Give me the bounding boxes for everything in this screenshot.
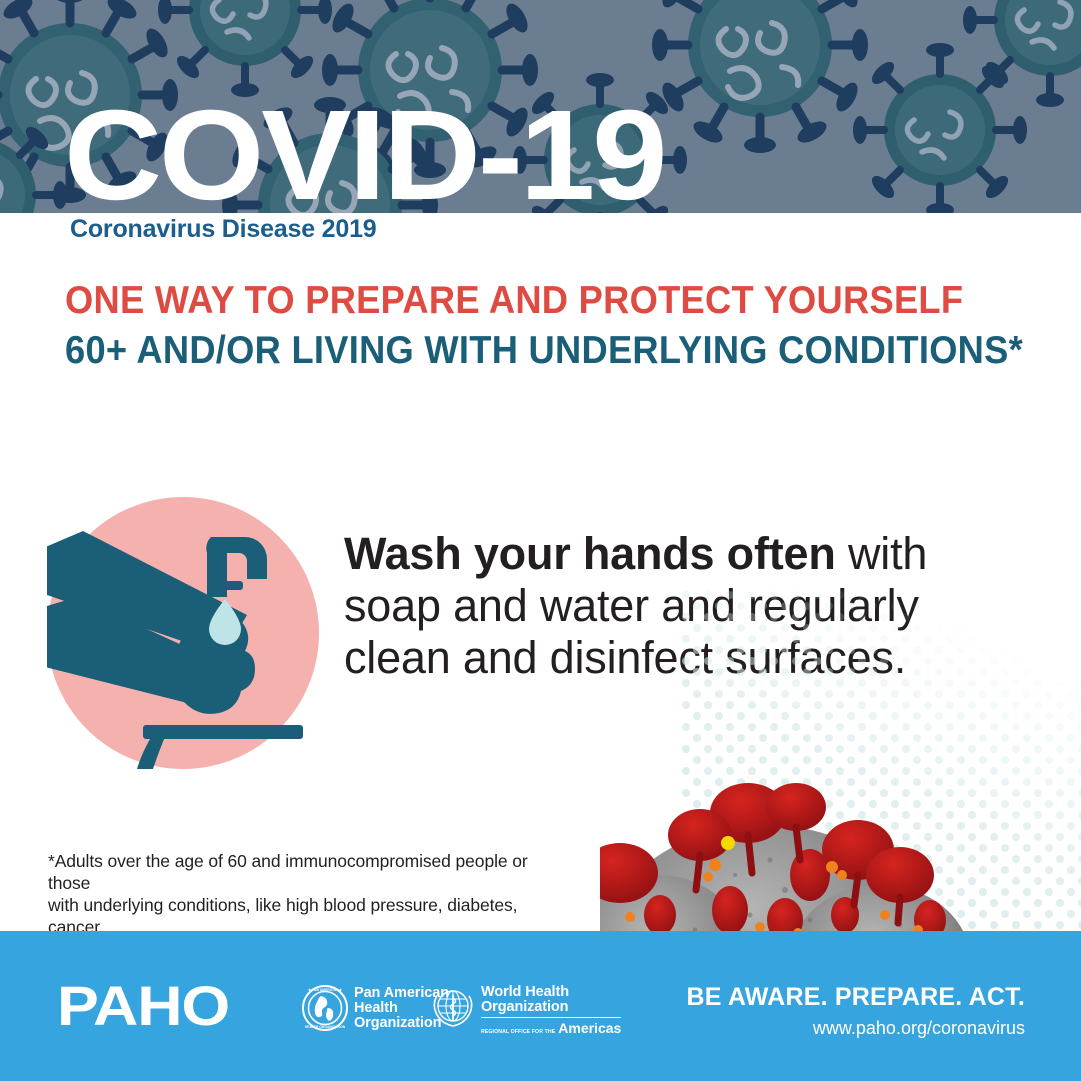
svg-text:★ PAN AMERICAN ★: ★ PAN AMERICAN ★	[307, 988, 342, 992]
footer-url-link[interactable]: www.paho.org/coronavirus	[813, 1018, 1025, 1039]
svg-text:HEALTH ORGANIZATION: HEALTH ORGANIZATION	[305, 1025, 346, 1029]
who-region-prefix: REGIONAL OFFICE FOR THE	[481, 1029, 555, 1035]
who-emblem-text: World Health Organization REGIONAL OFFIC…	[481, 985, 621, 1036]
who-emblem: World Health Organization REGIONAL OFFIC…	[430, 985, 621, 1036]
footer-tagline: BE AWARE. PREPARE. ACT.	[687, 983, 1025, 1012]
who-region-name: Americas	[558, 1020, 621, 1036]
headline-primary: ONE WAY TO PREPARE AND PROTECT YOURSELF	[65, 276, 958, 326]
footnote-line-1: *Adults over the age of 60 and immunocom…	[48, 850, 568, 894]
who-emblem-icon	[430, 985, 476, 1031]
paho-seal-icon: ★ PAN AMERICAN ★ HEALTH ORGANIZATION	[302, 985, 348, 1031]
covid-infographic-poster: COVID-19 Coronavirus Disease 2019 ONE WA…	[0, 0, 1081, 1081]
who-emblem-line-1: World Health	[481, 985, 621, 1000]
coronavirus-particle-photo	[600, 755, 1020, 935]
who-region-row: REGIONAL OFFICE FOR THE Americas	[481, 1020, 621, 1036]
who-emblem-line-2: Organization	[481, 1000, 621, 1015]
header-band: COVID-19	[0, 0, 1081, 213]
headline-block: ONE WAY TO PREPARE AND PROTECT YOURSELF …	[65, 276, 1025, 376]
page-subtitle: Coronavirus Disease 2019	[70, 215, 376, 244]
handwashing-icon	[47, 497, 319, 769]
paho-wordmark: PAHO	[57, 978, 229, 1034]
who-emblem-name: World Health Organization	[481, 985, 621, 1018]
main-message-bold: Wash your hands often	[344, 528, 836, 579]
paho-emblem: ★ PAN AMERICAN ★ HEALTH ORGANIZATION Pan…	[302, 985, 449, 1031]
page-title: COVID-19	[64, 92, 664, 213]
headline-secondary: 60+ AND/OR LIVING WITH UNDERLYING CONDIT…	[65, 326, 958, 376]
